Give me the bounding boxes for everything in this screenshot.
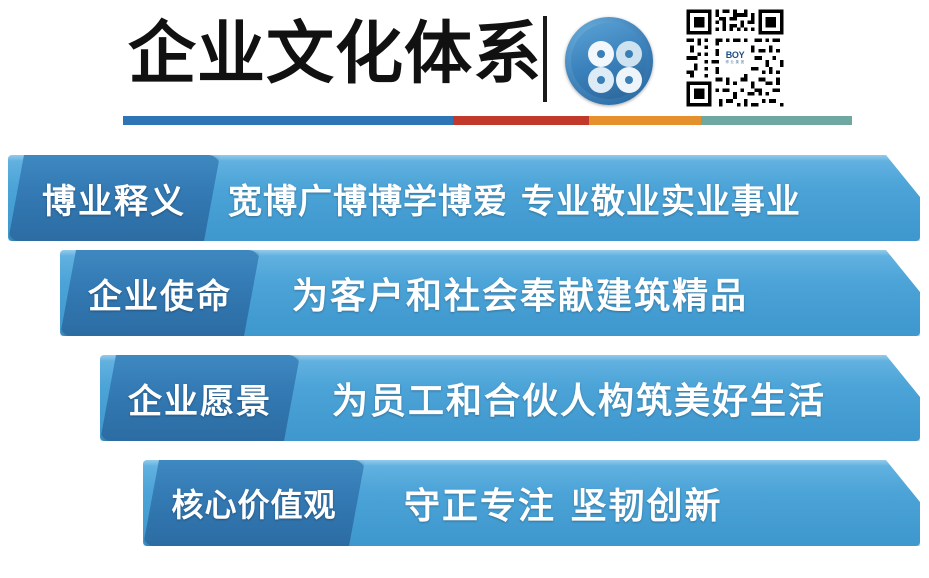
culture-rows: 宽博广博博学博爱 专业敬业实业事业 博业释义 为客户和社会奉献建筑精品 企业使命… — [0, 140, 929, 578]
company-logo — [565, 17, 653, 105]
color-bar-segment-3 — [589, 116, 701, 125]
color-divider-bar — [123, 116, 852, 125]
culture-row-4[interactable]: 守正专注 坚韧创新 核心价值观 — [0, 460, 929, 546]
color-bar-segment-4 — [701, 116, 852, 125]
logo-dot-3-icon — [588, 67, 614, 93]
logo-dot-2-icon — [616, 41, 642, 67]
logo-dot-1-icon — [588, 41, 614, 67]
row-1-label: 博业释义 — [8, 155, 220, 241]
row-3-label: 企业愿景 — [100, 355, 300, 441]
row-2-text: 为客户和社会奉献建筑精品 — [292, 250, 748, 336]
slide-canvas: 企业文化体系 — [0, 0, 929, 578]
qr-center-logo-text: BOY — [726, 51, 745, 60]
qr-center-logo-subtext: 博 业 集 团 — [725, 60, 744, 65]
header: 企业文化体系 — [0, 0, 929, 112]
logo-dot-4-icon — [616, 67, 642, 93]
row-2-label: 企业使命 — [60, 250, 260, 336]
title-divider — [543, 16, 547, 102]
row-4-label: 核心价值观 — [143, 460, 365, 546]
culture-row-1[interactable]: 宽博广博博学博爱 专业敬业实业事业 博业释义 — [0, 155, 929, 241]
color-bar-segment-1 — [123, 116, 453, 125]
row-1-text: 宽博广博博学博爱 专业敬业实业事业 — [228, 155, 801, 241]
qr-code[interactable]: BOY 博 业 集 团 — [683, 6, 787, 110]
color-bar-segment-2 — [453, 116, 589, 125]
logo-inner-disc — [571, 23, 647, 99]
culture-row-3[interactable]: 为员工和合伙人构筑美好生活 企业愿景 — [0, 355, 929, 441]
qr-center-logo: BOY 博 业 集 团 — [719, 42, 751, 74]
page-title: 企业文化体系 — [128, 16, 542, 94]
culture-row-2[interactable]: 为客户和社会奉献建筑精品 企业使命 — [0, 250, 929, 336]
logo-outer-ring — [565, 17, 653, 105]
row-4-text: 守正专注 坚韧创新 — [404, 460, 723, 546]
row-3-text: 为员工和合伙人构筑美好生活 — [332, 355, 826, 441]
